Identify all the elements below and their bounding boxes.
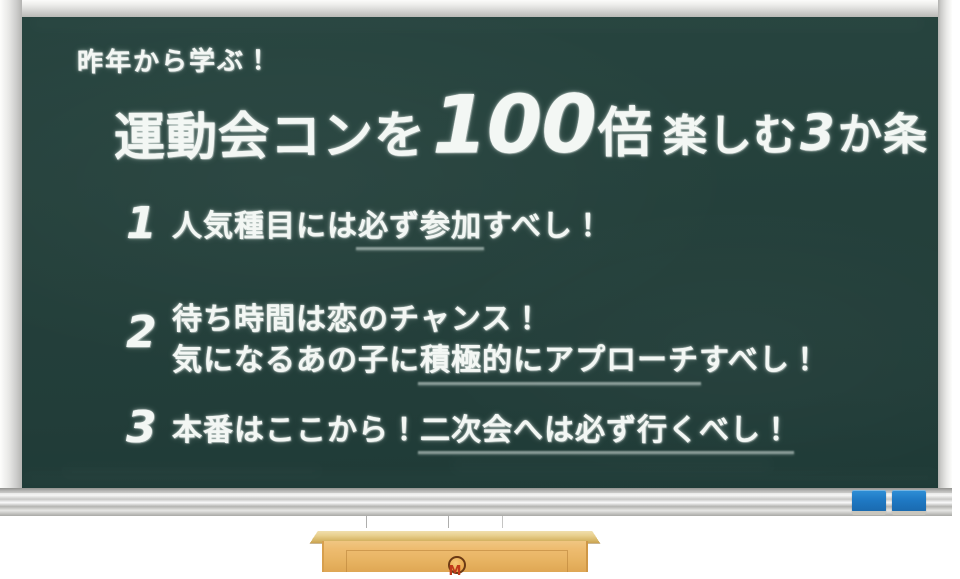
rule-text-pre: 待ち時間は恋のチャンス！ bbox=[172, 302, 543, 337]
rule-body-2: 待ち時間は恋のチャンス！ 気になるあの子に積極的にアプローチすべし！ bbox=[172, 295, 821, 382]
chalkboard-surface[interactable]: 昨年から学ぶ！ 運動会コンを 100 倍 楽しむ 3 か条 1 人気種目には必ず… bbox=[22, 17, 938, 488]
rule-line: 人気種目には必ず参加すべし！ bbox=[172, 206, 604, 247]
rule-text-underlined: 二次会へは必ず行くべし！ bbox=[420, 410, 792, 451]
rule-text-pre: 人気種目には bbox=[172, 209, 358, 244]
title-part-2: 倍 bbox=[598, 88, 654, 167]
rule-text-underlined: 必ず参加 bbox=[358, 206, 482, 247]
board-kicker-text: 昨年から学ぶ！ bbox=[77, 40, 273, 79]
blackboard-eraser-icon[interactable] bbox=[892, 490, 926, 512]
title-part-3: 楽しむ bbox=[663, 99, 798, 164]
rule-line: 待ち時間は恋のチャンス！ bbox=[172, 299, 543, 340]
chalk-dust-smear bbox=[452, 457, 772, 473]
rule-item-1: 1 人気種目には必ず参加すべし！ bbox=[126, 202, 604, 247]
rule-line: 気になるあの子に積極的にアプローチすべし！ bbox=[172, 340, 821, 381]
rule-body-3: 本番はここから！二次会へは必ず行くべし！ bbox=[172, 406, 792, 451]
podium-hanger-hooks bbox=[342, 516, 572, 528]
rule-number-2: 2 bbox=[126, 295, 172, 355]
chalk-dust-smear bbox=[22, 472, 938, 484]
rule-text-post: すべし！ bbox=[699, 343, 821, 378]
frame-right-rail bbox=[938, 0, 952, 516]
board-title: 運動会コンを 100 倍 楽しむ 3 か条 bbox=[114, 86, 928, 171]
wooden-podium: M bbox=[310, 528, 600, 572]
title-big-number: 100 bbox=[432, 88, 596, 161]
rule-text-post: すべし！ bbox=[482, 209, 604, 244]
title-part-1: 運動会コンを bbox=[114, 94, 427, 170]
blackboard-eraser-icon[interactable] bbox=[852, 490, 886, 512]
rule-text-underlined: 積極的にアプローチ bbox=[420, 340, 699, 381]
podium-front-panel: M bbox=[322, 541, 588, 572]
rule-item-2: 2 待ち時間は恋のチャンス！ 気になるあの子に積極的にアプローチすべし！ bbox=[126, 295, 821, 382]
scene-stage: 昨年から学ぶ！ 運動会コンを 100 倍 楽しむ 3 か条 1 人気種目には必ず… bbox=[0, 0, 960, 572]
title-count-number: 3 bbox=[798, 104, 838, 162]
chalk-dust-smear bbox=[62, 465, 322, 477]
frame-top-rail bbox=[0, 0, 952, 17]
podium-emblem-icon: M bbox=[446, 556, 464, 576]
chalkboard-frame: 昨年から学ぶ！ 運動会コンを 100 倍 楽しむ 3 か条 1 人気種目には必ず… bbox=[0, 0, 952, 516]
rule-number-1: 1 bbox=[126, 202, 172, 246]
frame-left-rail bbox=[0, 0, 22, 516]
rule-line: 本番はここから！二次会へは必ず行くべし！ bbox=[172, 410, 792, 451]
chalk-tray-lip bbox=[0, 488, 952, 493]
chalk-tray bbox=[0, 488, 952, 516]
rule-item-3: 3 本番はここから！二次会へは必ず行くべし！ bbox=[126, 406, 792, 451]
rule-body-1: 人気種目には必ず参加すべし！ bbox=[172, 202, 604, 247]
rule-text-pre: 本番はここから！ bbox=[172, 413, 420, 448]
rule-number-3: 3 bbox=[126, 406, 172, 450]
eraser-felt bbox=[852, 511, 886, 515]
title-part-4: か条 bbox=[838, 98, 928, 163]
chalk-dust-smear bbox=[32, 19, 922, 28]
eraser-felt bbox=[892, 511, 926, 515]
rule-text-pre: 気になるあの子に bbox=[172, 343, 420, 378]
